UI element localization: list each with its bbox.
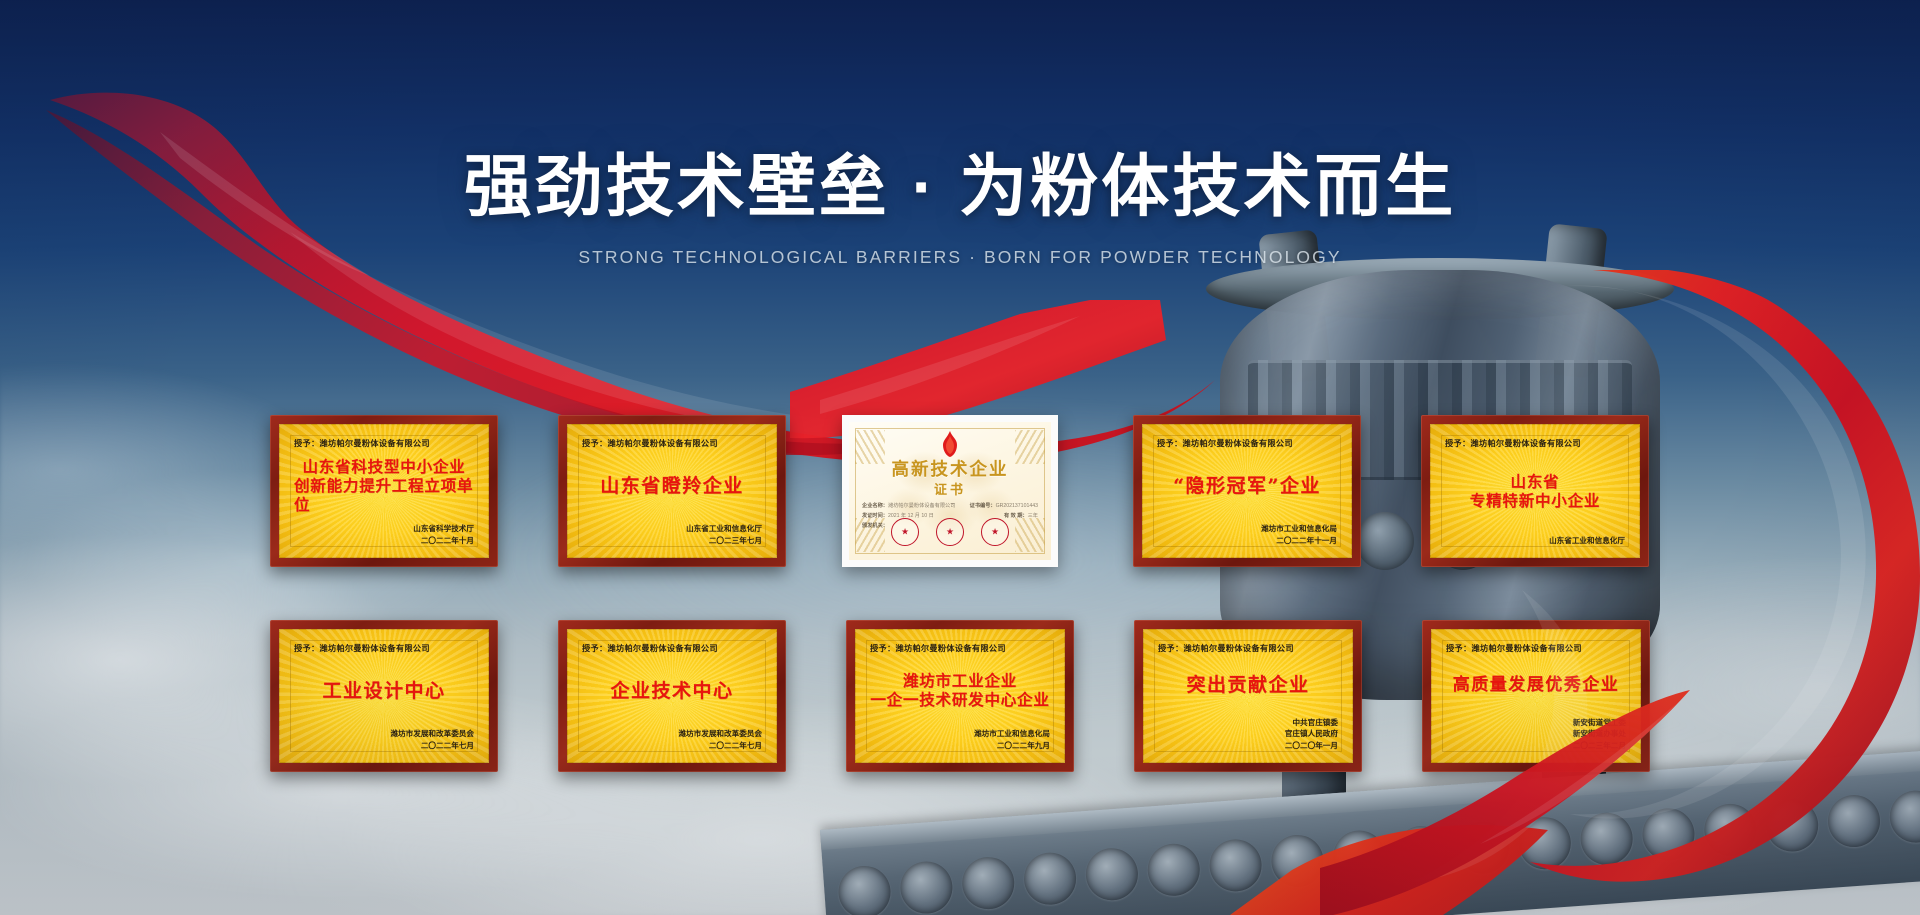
plaque-award-line: 授予：潍坊帕尔曼粉体设备有限公司	[1445, 437, 1625, 449]
honor-plaque-grid: 授予：潍坊帕尔曼粉体设备有限公司 山东省科技型中小企业 创新能力提升工程立项单位…	[0, 0, 1920, 915]
plaque-title: 工业设计中心	[294, 654, 474, 728]
plaque-face: 授予：潍坊帕尔曼粉体设备有限公司 山东省 专精特新中小企业 山东省工业和信息化厅	[1430, 424, 1640, 558]
plaque-title-line: 潍坊市工业企业	[903, 672, 1017, 691]
plaque-face: 授予：潍坊帕尔曼粉体设备有限公司 高质量发展优秀企业 新安街道党工委 新安街道办…	[1431, 629, 1641, 763]
plaque-yiqi-yijishu[interactable]: 授予：潍坊帕尔曼粉体设备有限公司 潍坊市工业企业 一企一技术研发中心企业 潍坊市…	[846, 620, 1074, 772]
plaque-title: 山东省瞪羚企业	[582, 449, 762, 523]
page-title: 强劲技术壁垒 · 为粉体技术而生	[0, 150, 1920, 225]
certificate-field-key: 企业名称：	[862, 503, 888, 509]
plaque-issuer: 潍坊市工业和信息化局 二〇二二年九月	[870, 728, 1050, 752]
page-subtitle: STRONG TECHNOLOGICAL BARRIERS · BORN FOR…	[0, 247, 1920, 268]
plaque-award-line: 授予：潍坊帕尔曼粉体设备有限公司	[1446, 642, 1626, 654]
banner-stage: 强劲技术壁垒 · 为粉体技术而生 STRONG TECHNOLOGICAL BA…	[0, 0, 1920, 915]
plaque-issuer: 山东省工业和信息化厅	[1445, 535, 1625, 547]
plaque-dengling[interactable]: 授予：潍坊帕尔曼粉体设备有限公司 山东省瞪羚企业 山东省工业和信息化厅 二〇二三…	[558, 415, 786, 567]
plaque-issuer-line: 二〇二二年十月	[294, 535, 474, 547]
plaque-tuchu-gongxian[interactable]: 授予：潍坊帕尔曼粉体设备有限公司 突出贡献企业 中共官庄镇委 官庄镇人民政府 二…	[1134, 620, 1362, 772]
certificate-subtitle: 证书	[849, 479, 1051, 498]
plaque-issuer-line: 潍坊市发展和改革委员会	[294, 728, 474, 740]
plaque-issuer-line: 中共官庄镇委	[1158, 717, 1338, 729]
plaque-title: 山东省 专精特新中小企业	[1445, 449, 1625, 535]
plaque-issuer: 潍坊市发展和改革委员会 二〇二二年七月	[582, 728, 762, 752]
plaque-issuer: 潍坊市工业和信息化局 二〇二二年十一月	[1157, 523, 1337, 547]
plaque-award-line: 授予：潍坊帕尔曼粉体设备有限公司	[1158, 642, 1338, 654]
plaque-zhuanjingtexin[interactable]: 授予：潍坊帕尔曼粉体设备有限公司 山东省 专精特新中小企业 山东省工业和信息化厅	[1421, 415, 1649, 567]
plaque-title: 潍坊市工业企业 一企一技术研发中心企业	[870, 654, 1050, 728]
plaque-face: 授予：潍坊帕尔曼粉体设备有限公司 山东省瞪羚企业 山东省工业和信息化厅 二〇二三…	[567, 424, 777, 558]
plaque-title-line: 工业设计中心	[322, 680, 445, 703]
plaque-title: 突出贡献企业	[1158, 654, 1338, 717]
official-seal-icon	[936, 518, 964, 546]
certificate-field-key: 证书编号：	[970, 503, 996, 509]
official-seal-icon	[981, 518, 1009, 546]
plaque-title-line: “隐形冠军”企业	[1173, 475, 1321, 498]
plaque-award-line: 授予：潍坊帕尔曼粉体设备有限公司	[1157, 437, 1337, 449]
plaque-title: 企业技术中心	[582, 654, 762, 728]
plaque-title-line: 山东省	[1511, 473, 1560, 492]
plaque-face: 授予：潍坊帕尔曼粉体设备有限公司 企业技术中心 潍坊市发展和改革委员会 二〇二二…	[567, 629, 777, 763]
plaque-award-line: 授予：潍坊帕尔曼粉体设备有限公司	[294, 642, 474, 654]
plaque-title-line: 高质量发展优秀企业	[1453, 675, 1620, 696]
certificate-field-value: 潍坊帕尔曼粉体设备有限公司	[888, 503, 955, 509]
certificate-title: 高新技术企业	[849, 456, 1051, 481]
plaque-award-line: 授予：潍坊帕尔曼粉体设备有限公司	[582, 642, 762, 654]
plaque-issuer-line: 二〇二〇年一月	[1158, 740, 1338, 752]
plaque-issuer-line: 二〇二三年二月	[1446, 740, 1626, 752]
plaque-issuer-line: 二〇二二年七月	[582, 740, 762, 752]
plaque-title-line: 创新能力提升工程立项单位	[294, 477, 474, 515]
plaque-title-line: 山东省科技型中小企业	[302, 458, 465, 477]
plaque-title-line: 企业技术中心	[610, 680, 733, 703]
plaque-face: 授予：潍坊帕尔曼粉体设备有限公司 山东省科技型中小企业 创新能力提升工程立项单位…	[279, 424, 489, 558]
plaque-issuer-line: 山东省工业和信息化厅	[1445, 535, 1625, 547]
plaque-issuer-line: 二〇二二年七月	[294, 740, 474, 752]
plaque-yinxing-guanjun[interactable]: 授予：潍坊帕尔曼粉体设备有限公司 “隐形冠军”企业 潍坊市工业和信息化局 二〇二…	[1133, 415, 1361, 567]
plaque-title: 山东省科技型中小企业 创新能力提升工程立项单位	[294, 449, 474, 523]
plaque-issuer: 潍坊市发展和改革委员会 二〇二二年七月	[294, 728, 474, 752]
plaque-title-line: 一企一技术研发中心企业	[870, 691, 1049, 710]
plaque-face: 授予：潍坊帕尔曼粉体设备有限公司 突出贡献企业 中共官庄镇委 官庄镇人民政府 二…	[1143, 629, 1353, 763]
plaque-issuer: 中共官庄镇委 官庄镇人民政府 二〇二〇年一月	[1158, 717, 1338, 752]
plaque-issuer-line: 潍坊市工业和信息化局	[1157, 523, 1337, 535]
plaque-issuer: 山东省工业和信息化厅 二〇二三年七月	[582, 523, 762, 547]
plaque-issuer: 山东省科学技术厅 二〇二二年十月	[294, 523, 474, 547]
official-seal-icon	[891, 518, 919, 546]
plaque-issuer-line: 官庄镇人民政府	[1158, 728, 1338, 740]
flame-logo-icon	[939, 431, 961, 457]
plaque-title-line: 突出贡献企业	[1186, 674, 1309, 697]
plaque-issuer: 新安街道党工委 新安街道办事处 二〇二三年二月	[1446, 717, 1626, 752]
certificate-high-tech[interactable]: 高新技术企业 证书 企业名称：潍坊帕尔曼粉体设备有限公司 证书编号：GR2021…	[842, 415, 1058, 567]
plaque-gongye-sheji[interactable]: 授予：潍坊帕尔曼粉体设备有限公司 工业设计中心 潍坊市发展和改革委员会 二〇二二…	[270, 620, 498, 772]
plaque-award-line: 授予：潍坊帕尔曼粉体设备有限公司	[582, 437, 762, 449]
plaque-title-line: 山东省瞪羚企业	[600, 475, 744, 498]
plaque-face: 授予：潍坊帕尔曼粉体设备有限公司 工业设计中心 潍坊市发展和改革委员会 二〇二二…	[279, 629, 489, 763]
plaque-issuer-line: 山东省科学技术厅	[294, 523, 474, 535]
plaque-issuer-line: 新安街道办事处	[1446, 728, 1626, 740]
plaque-face: 授予：潍坊帕尔曼粉体设备有限公司 “隐形冠军”企业 潍坊市工业和信息化局 二〇二…	[1142, 424, 1352, 558]
plaque-title-line: 专精特新中小企业	[1470, 492, 1600, 511]
plaque-issuer-line: 二〇二三年七月	[582, 535, 762, 547]
plaque-award-line: 授予：潍坊帕尔曼粉体设备有限公司	[294, 437, 474, 449]
plaque-issuer-line: 二〇二二年十一月	[1157, 535, 1337, 547]
plaque-issuer-line: 潍坊市工业和信息化局	[870, 728, 1050, 740]
plaque-title: “隐形冠军”企业	[1157, 449, 1337, 523]
plaque-award-line: 授予：潍坊帕尔曼粉体设备有限公司	[870, 642, 1050, 654]
plaque-issuer-line: 二〇二二年九月	[870, 740, 1050, 752]
certificate-seal-row	[849, 518, 1051, 546]
plaque-issuer-line: 山东省工业和信息化厅	[582, 523, 762, 535]
plaque-issuer-line: 新安街道党工委	[1446, 717, 1626, 729]
plaque-issuer-line: 潍坊市发展和改革委员会	[582, 728, 762, 740]
plaque-title: 高质量发展优秀企业	[1446, 654, 1626, 717]
plaque-face: 授予：潍坊帕尔曼粉体设备有限公司 潍坊市工业企业 一企一技术研发中心企业 潍坊市…	[855, 629, 1065, 763]
plaque-gaozhiliang[interactable]: 授予：潍坊帕尔曼粉体设备有限公司 高质量发展优秀企业 新安街道党工委 新安街道办…	[1422, 620, 1650, 772]
headline-block: 强劲技术壁垒 · 为粉体技术而生 STRONG TECHNOLOGICAL BA…	[0, 150, 1920, 268]
certificate-field-value: GR202137101443	[996, 503, 1038, 509]
plaque-qiye-jishu[interactable]: 授予：潍坊帕尔曼粉体设备有限公司 企业技术中心 潍坊市发展和改革委员会 二〇二二…	[558, 620, 786, 772]
plaque-keji-zhongxiao[interactable]: 授予：潍坊帕尔曼粉体设备有限公司 山东省科技型中小企业 创新能力提升工程立项单位…	[270, 415, 498, 567]
certificate-face: 高新技术企业 证书 企业名称：潍坊帕尔曼粉体设备有限公司 证书编号：GR2021…	[849, 422, 1051, 560]
